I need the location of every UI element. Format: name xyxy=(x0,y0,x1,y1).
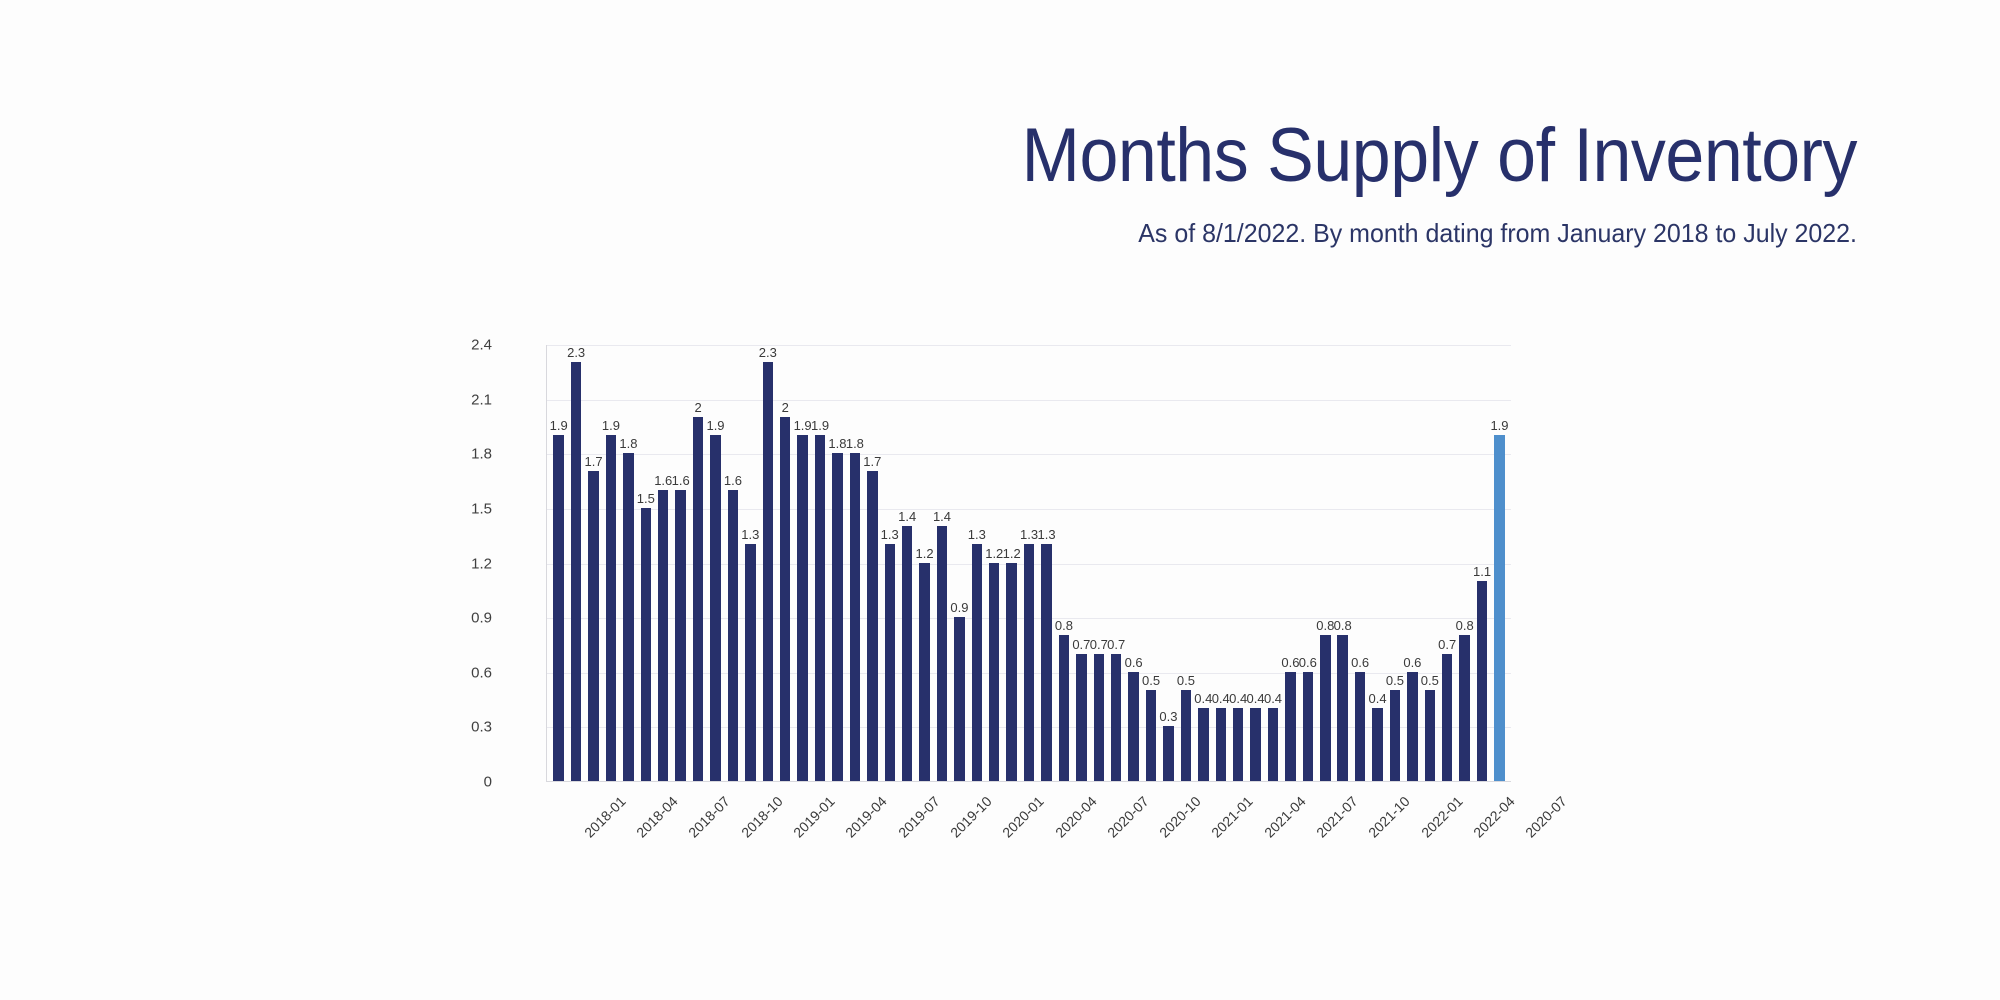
bar[interactable]: 1.4 xyxy=(937,526,947,781)
bar-slot: 0.8 xyxy=(1055,345,1072,781)
bar-value-label: 0.7 xyxy=(1438,638,1456,651)
y-axis-tick-label: 0.9 xyxy=(432,610,492,627)
bar-value-label: 0.7 xyxy=(1072,638,1090,651)
bar-slot: 0.7 xyxy=(1439,345,1456,781)
bar-slot: 1.9 xyxy=(602,345,619,781)
x-axis-tick-label: 2019-07 xyxy=(895,793,943,841)
bar-value-label: 0.6 xyxy=(1299,656,1317,669)
bar-slot: 0.4 xyxy=(1247,345,1264,781)
bar[interactable]: 0.7 xyxy=(1442,654,1452,781)
bar-slot: 0.6 xyxy=(1404,345,1421,781)
bar-value-label: 1.2 xyxy=(985,547,1003,560)
bar-value-label: 0.8 xyxy=(1316,619,1334,632)
bar[interactable]: 0.7 xyxy=(1094,654,1104,781)
bar-value-label: 1.3 xyxy=(1020,528,1038,541)
x-axis-tick-label: 2022-01 xyxy=(1418,793,1466,841)
bar-slot: 0.9 xyxy=(951,345,968,781)
bar-slot: 0.5 xyxy=(1177,345,1194,781)
bar-slot: 1.2 xyxy=(986,345,1003,781)
bar-slot: 1.2 xyxy=(916,345,933,781)
y-axis-tick-label: 1.8 xyxy=(432,446,492,463)
bar-slot: 0.3 xyxy=(1160,345,1177,781)
bar[interactable]: 0.8 xyxy=(1459,635,1469,781)
bar[interactable]: 1.6 xyxy=(728,490,738,781)
bar-chart: 00.30.60.91.21.51.82.12.4 1.92.31.71.91.… xyxy=(480,345,1520,635)
bar-slot: 1.4 xyxy=(898,345,915,781)
bar-value-label: 0.4 xyxy=(1229,692,1247,705)
bar-value-label: 1.9 xyxy=(706,419,724,432)
y-axis-tick-label: 2.1 xyxy=(432,391,492,408)
bar-slot: 0.7 xyxy=(1090,345,1107,781)
bar-slot: 0.8 xyxy=(1317,345,1334,781)
bar[interactable]: 1.3 xyxy=(745,544,755,781)
plot-area: 1.92.31.71.91.81.51.61.621.91.61.32.321.… xyxy=(546,345,1511,782)
bar[interactable]: 1.8 xyxy=(623,453,633,781)
bar[interactable]: 1.3 xyxy=(885,544,895,781)
bar[interactable]: 0.7 xyxy=(1076,654,1086,781)
chart-subtitle: As of 8/1/2022. By month dating from Jan… xyxy=(74,218,1857,249)
bar-value-label: 0.8 xyxy=(1456,619,1474,632)
bar[interactable]: 2 xyxy=(693,417,703,781)
bar[interactable]: 0.9 xyxy=(954,617,964,781)
bar-value-label: 1.6 xyxy=(654,474,672,487)
y-axis-tick-label: 0.6 xyxy=(432,664,492,681)
bar-value-label: 1.3 xyxy=(741,528,759,541)
y-axis-tick-label: 1.2 xyxy=(432,555,492,572)
bar[interactable]: 0.4 xyxy=(1216,708,1226,781)
bar[interactable]: 0.4 xyxy=(1268,708,1278,781)
bar-value-label: 1.7 xyxy=(863,455,881,468)
bar-slot: 0.8 xyxy=(1456,345,1473,781)
bar-slot: 0.8 xyxy=(1334,345,1351,781)
bar[interactable]: 0.5 xyxy=(1425,690,1435,781)
bar-value-label: 1.3 xyxy=(881,528,899,541)
bar[interactable]: 0.8 xyxy=(1059,635,1069,781)
bar[interactable]: 1.7 xyxy=(588,471,598,781)
bar[interactable]: 0.6 xyxy=(1355,672,1365,781)
bar[interactable]: 0.6 xyxy=(1303,672,1313,781)
bar[interactable]: 0.5 xyxy=(1390,690,1400,781)
bar-value-label: 0.6 xyxy=(1403,656,1421,669)
bar[interactable]: 1.6 xyxy=(675,490,685,781)
bar-slot: 1.7 xyxy=(585,345,602,781)
bar-value-label: 1.8 xyxy=(619,437,637,450)
bar-slot: 0.4 xyxy=(1212,345,1229,781)
bar-slot: 1.9 xyxy=(811,345,828,781)
bar-slot: 0.5 xyxy=(1142,345,1159,781)
bar-slot: 1.6 xyxy=(655,345,672,781)
bar-slot: 1.6 xyxy=(724,345,741,781)
x-axis-tick-label: 2020-04 xyxy=(1052,793,1100,841)
bar-value-label: 0.5 xyxy=(1142,674,1160,687)
bar-slot: 1.9 xyxy=(707,345,724,781)
bar-value-label: 0.8 xyxy=(1334,619,1352,632)
bar-value-label: 0.6 xyxy=(1351,656,1369,669)
bar-slot: 2.3 xyxy=(759,345,776,781)
bar[interactable]: 0.6 xyxy=(1407,672,1417,781)
bar-value-label: 2.3 xyxy=(567,346,585,359)
bar-value-label: 2.3 xyxy=(759,346,777,359)
bar-value-label: 0.8 xyxy=(1055,619,1073,632)
bar-slot: 1.3 xyxy=(968,345,985,781)
y-axis-tick-label: 0 xyxy=(432,774,492,791)
bar-value-label: 0.6 xyxy=(1281,656,1299,669)
bar[interactable]: 1.9 xyxy=(797,435,807,781)
bar-value-label: 1.1 xyxy=(1473,565,1491,578)
bar-value-label: 1.4 xyxy=(933,510,951,523)
bar-slot: 0.4 xyxy=(1264,345,1281,781)
bar-value-label: 1.5 xyxy=(637,492,655,505)
x-axis-tick-label: 2020-01 xyxy=(999,793,1047,841)
bar[interactable]: 1.9 xyxy=(553,435,563,781)
bar-slot: 0.6 xyxy=(1299,345,1316,781)
x-axis-tick-label: 2019-10 xyxy=(947,793,995,841)
bar-slot: 1.9 xyxy=(550,345,567,781)
x-axis-tick-label: 2021-01 xyxy=(1208,793,1256,841)
bar-value-label: 0.5 xyxy=(1421,674,1439,687)
bar-series: 1.92.31.71.91.81.51.61.621.91.61.32.321.… xyxy=(547,345,1511,781)
bar-value-label: 1.9 xyxy=(550,419,568,432)
header: Months Supply of Inventory As of 8/1/202… xyxy=(0,118,1857,249)
bar-value-label: 1.8 xyxy=(828,437,846,450)
bar[interactable]: 1.4 xyxy=(902,526,912,781)
x-axis-tick-label: 2020-07 xyxy=(1522,793,1570,841)
bar-value-label: 0.5 xyxy=(1177,674,1195,687)
bar[interactable]: 0.5 xyxy=(1146,690,1156,781)
bar[interactable]: 0.8 xyxy=(1320,635,1330,781)
bar-slot: 2 xyxy=(689,345,706,781)
bar[interactable]: 0.3 xyxy=(1163,726,1173,781)
bar-value-label: 1.7 xyxy=(585,455,603,468)
bar-slot: 1.3 xyxy=(742,345,759,781)
bar[interactable]: 1.3 xyxy=(1024,544,1034,781)
bar[interactable]: 1.8 xyxy=(850,453,860,781)
bar-value-label: 1.2 xyxy=(916,547,934,560)
bar-slot: 2.3 xyxy=(567,345,584,781)
bar-slot: 1.5 xyxy=(637,345,654,781)
bar[interactable]: 0.4 xyxy=(1372,708,1382,781)
bar[interactable]: 0.7 xyxy=(1111,654,1121,781)
bar-slot: 0.6 xyxy=(1351,345,1368,781)
bar-value-label: 0.7 xyxy=(1107,638,1125,651)
y-axis-tick-label: 2.4 xyxy=(432,337,492,354)
page-title: Months Supply of Inventory xyxy=(149,118,1857,194)
bar-slot: 0.7 xyxy=(1108,345,1125,781)
bar-value-label: 1.3 xyxy=(968,528,986,541)
bar-value-label: 0.7 xyxy=(1090,638,1108,651)
bar[interactable]: 1.7 xyxy=(867,471,877,781)
bar-slot: 0.4 xyxy=(1229,345,1246,781)
bar[interactable]: 1.5 xyxy=(641,508,651,781)
bar-slot: 0.5 xyxy=(1386,345,1403,781)
bar-slot: 1.2 xyxy=(1003,345,1020,781)
x-axis-tick-label: 2018-07 xyxy=(685,793,733,841)
bar-slot: 1.8 xyxy=(620,345,637,781)
bar-slot: 1.9 xyxy=(794,345,811,781)
x-axis-tick-label: 2020-07 xyxy=(1104,793,1152,841)
x-axis-tick-label: 2019-01 xyxy=(790,793,838,841)
bar[interactable]: 1.9 xyxy=(606,435,616,781)
bar-value-label: 0.4 xyxy=(1194,692,1212,705)
bar[interactable]: 1.2 xyxy=(989,563,999,782)
bar-value-label: 0.6 xyxy=(1125,656,1143,669)
bar-slot: 1.3 xyxy=(1038,345,1055,781)
bar[interactable]: 1.3 xyxy=(972,544,982,781)
bar[interactable]: 0.4 xyxy=(1198,708,1208,781)
bar[interactable]: 1.3 xyxy=(1041,544,1051,781)
bar-value-label: 0.3 xyxy=(1159,710,1177,723)
bar-slot: 0.5 xyxy=(1421,345,1438,781)
bar-slot: 2 xyxy=(776,345,793,781)
bar-value-label: 1.8 xyxy=(846,437,864,450)
bar-slot: 1.8 xyxy=(829,345,846,781)
x-axis-tick-label: 2021-07 xyxy=(1313,793,1361,841)
bar-slot: 1.7 xyxy=(864,345,881,781)
bar-value-label: 0.4 xyxy=(1368,692,1386,705)
bar-slot: 0.4 xyxy=(1369,345,1386,781)
bar[interactable]: 2.3 xyxy=(763,362,773,781)
bar-value-label: 0.4 xyxy=(1212,692,1230,705)
bar-value-label: 2 xyxy=(782,401,789,414)
bar[interactable]: 1.2 xyxy=(1006,563,1016,782)
bar-slot: 0.4 xyxy=(1195,345,1212,781)
y-axis-tick-label: 0.3 xyxy=(432,719,492,736)
bar-slot: 1.8 xyxy=(846,345,863,781)
bar[interactable]: 1.8 xyxy=(832,453,842,781)
x-axis-tick-label: 2019-04 xyxy=(842,793,890,841)
bar-value-label: 0.4 xyxy=(1264,692,1282,705)
bar-value-label: 1.9 xyxy=(602,419,620,432)
x-axis-tick-label: 2021-04 xyxy=(1261,793,1309,841)
bar-highlighted[interactable]: 1.9 xyxy=(1494,435,1504,781)
bar[interactable]: 1.1 xyxy=(1477,581,1487,781)
bar[interactable]: 1.6 xyxy=(658,490,668,781)
bar[interactable]: 0.6 xyxy=(1128,672,1138,781)
bar[interactable]: 1.2 xyxy=(919,563,929,782)
y-axis-tick-label: 1.5 xyxy=(432,500,492,517)
x-axis-tick-label: 2018-04 xyxy=(633,793,681,841)
bar-value-label: 1.6 xyxy=(724,474,742,487)
bar-slot: 1.9 xyxy=(1491,345,1508,781)
bar-value-label: 1.3 xyxy=(1037,528,1055,541)
bar-slot: 1.3 xyxy=(881,345,898,781)
bar-slot: 1.4 xyxy=(933,345,950,781)
bar[interactable]: 2.3 xyxy=(571,362,581,781)
bar-slot: 1.6 xyxy=(672,345,689,781)
bar-value-label: 1.9 xyxy=(1490,419,1508,432)
bar-slot: 1.3 xyxy=(1020,345,1037,781)
bar-value-label: 1.9 xyxy=(811,419,829,432)
x-axis-tick-label: 2020-10 xyxy=(1156,793,1204,841)
bar-value-label: 0.4 xyxy=(1247,692,1265,705)
bar-value-label: 1.9 xyxy=(794,419,812,432)
bar-slot: 1.1 xyxy=(1473,345,1490,781)
bar-value-label: 2 xyxy=(694,401,701,414)
bar-value-label: 1.4 xyxy=(898,510,916,523)
bar[interactable]: 1.9 xyxy=(710,435,720,781)
bar[interactable]: 0.6 xyxy=(1285,672,1295,781)
bar-value-label: 0.5 xyxy=(1386,674,1404,687)
x-axis-tick-label: 2022-04 xyxy=(1470,793,1518,841)
bar[interactable]: 0.4 xyxy=(1233,708,1243,781)
bar[interactable]: 0.5 xyxy=(1181,690,1191,781)
x-axis-tick-label: 2021-10 xyxy=(1365,793,1413,841)
bar[interactable]: 0.4 xyxy=(1250,708,1260,781)
bar-slot: 0.7 xyxy=(1073,345,1090,781)
x-axis-tick-label: 2018-10 xyxy=(738,793,786,841)
x-axis: 2018-012018-042018-072018-102019-012019-… xyxy=(546,783,1511,873)
chart-page: Months Supply of Inventory As of 8/1/202… xyxy=(0,0,2000,1000)
x-axis-tick-label: 2018-01 xyxy=(581,793,629,841)
bar-value-label: 0.9 xyxy=(950,601,968,614)
bar-value-label: 1.2 xyxy=(1003,547,1021,560)
bar-value-label: 1.6 xyxy=(672,474,690,487)
bar-slot: 0.6 xyxy=(1125,345,1142,781)
bar-slot: 0.6 xyxy=(1282,345,1299,781)
bar[interactable]: 2 xyxy=(780,417,790,781)
bar[interactable]: 1.9 xyxy=(815,435,825,781)
bar[interactable]: 0.8 xyxy=(1337,635,1347,781)
